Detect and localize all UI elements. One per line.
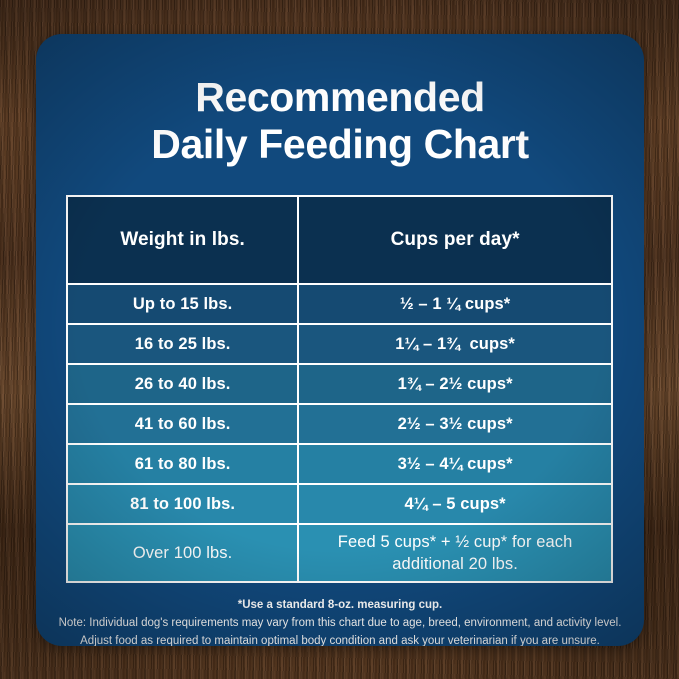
footnote-adjust: Adjust food as required to maintain opti… <box>44 633 636 646</box>
feeding-chart-card: Recommended Daily Feeding Chart Weight i… <box>36 34 644 646</box>
footnote-note: Note: Individual dog's requirements may … <box>44 615 636 633</box>
table-row: Up to 15 lbs. ½ – 1 ¼ cups* <box>67 284 612 324</box>
footnotes: *Use a standard 8-oz. measuring cup. Not… <box>36 597 644 646</box>
cell-weight: 41 to 60 lbs. <box>67 404 298 444</box>
cell-weight: 81 to 100 lbs. <box>67 484 298 524</box>
table-row: Over 100 lbs. Feed 5 cups* + ½ cup* for … <box>67 524 612 582</box>
table-row: 16 to 25 lbs. 1¼ – 1¾ cups* <box>67 324 612 364</box>
cell-cups: Feed 5 cups* + ½ cup* for each additiona… <box>298 524 612 582</box>
feeding-chart-table: Weight in lbs. Cups per day* Up to 15 lb… <box>66 195 613 583</box>
header-cups-column: Cups per day* <box>298 196 612 284</box>
cell-cups: 2½ – 3½ cups* <box>298 404 612 444</box>
footnote-measuring-cup: *Use a standard 8-oz. measuring cup. <box>44 597 636 615</box>
cell-weight: 61 to 80 lbs. <box>67 444 298 484</box>
cell-weight: Up to 15 lbs. <box>67 284 298 324</box>
cell-weight: 26 to 40 lbs. <box>67 364 298 404</box>
page-title: Recommended Daily Feeding Chart <box>36 74 644 167</box>
header-weight-column: Weight in lbs. <box>67 196 298 284</box>
table-row: 26 to 40 lbs. 1¾ – 2½ cups* <box>67 364 612 404</box>
cell-weight: 16 to 25 lbs. <box>67 324 298 364</box>
cell-cups: 3½ – 4¼ cups* <box>298 444 612 484</box>
cell-weight: Over 100 lbs. <box>67 524 298 582</box>
title-line-1: Recommended <box>62 74 618 121</box>
cell-cups: 1¼ – 1¾ cups* <box>298 324 612 364</box>
table-row: 81 to 100 lbs. 4¼ – 5 cups* <box>67 484 612 524</box>
cell-cups: ½ – 1 ¼ cups* <box>298 284 612 324</box>
title-line-2: Daily Feeding Chart <box>62 121 618 168</box>
table-header-row: Weight in lbs. Cups per day* <box>67 196 612 284</box>
cell-cups: 1¾ – 2½ cups* <box>298 364 612 404</box>
table-body: Weight in lbs. Cups per day* Up to 15 lb… <box>67 196 612 582</box>
cell-cups: 4¼ – 5 cups* <box>298 484 612 524</box>
table-row: 61 to 80 lbs. 3½ – 4¼ cups* <box>67 444 612 484</box>
wood-background: Recommended Daily Feeding Chart Weight i… <box>0 0 679 679</box>
table-row: 41 to 60 lbs. 2½ – 3½ cups* <box>67 404 612 444</box>
